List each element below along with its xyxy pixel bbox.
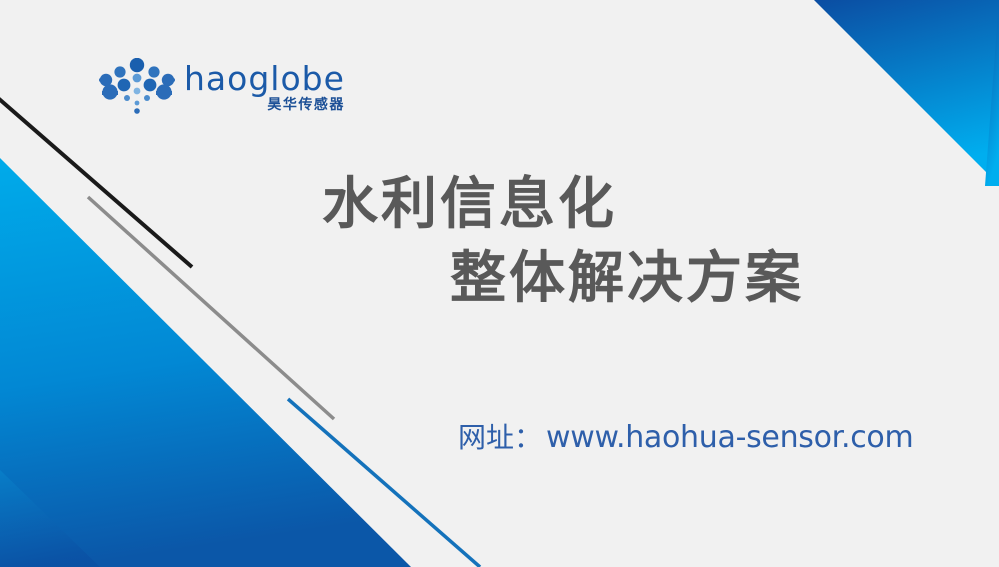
haoglobe-network-dots-logo-icon [96, 58, 178, 116]
website-url[interactable]: www.haohua-sensor.com [546, 418, 913, 458]
title-line-1: 水利信息化 [0, 168, 999, 242]
logo-subtitle: 昊华传感器 [267, 97, 345, 113]
title-line-2: 整体解决方案 [0, 242, 999, 316]
logo-text-block: haoglobe 昊华传感器 [184, 58, 345, 113]
logo-wordmark: haoglobe [184, 62, 345, 96]
bottom-left-wedge [0, 470, 100, 567]
presentation-slide: haoglobe 昊华传感器 水利信息化 整体解决方案 网址： www.haoh… [0, 0, 999, 567]
blue-accent-line [288, 399, 480, 567]
top-right-triangle [814, 0, 999, 185]
slide-title-block: 水利信息化 整体解决方案 [0, 168, 999, 316]
right-edge-wedge [985, 0, 999, 186]
website-label: 网址： [458, 418, 542, 458]
website-block: 网址： www.haohua-sensor.com [458, 418, 913, 458]
company-logo[interactable]: haoglobe 昊华传感器 [96, 58, 326, 120]
